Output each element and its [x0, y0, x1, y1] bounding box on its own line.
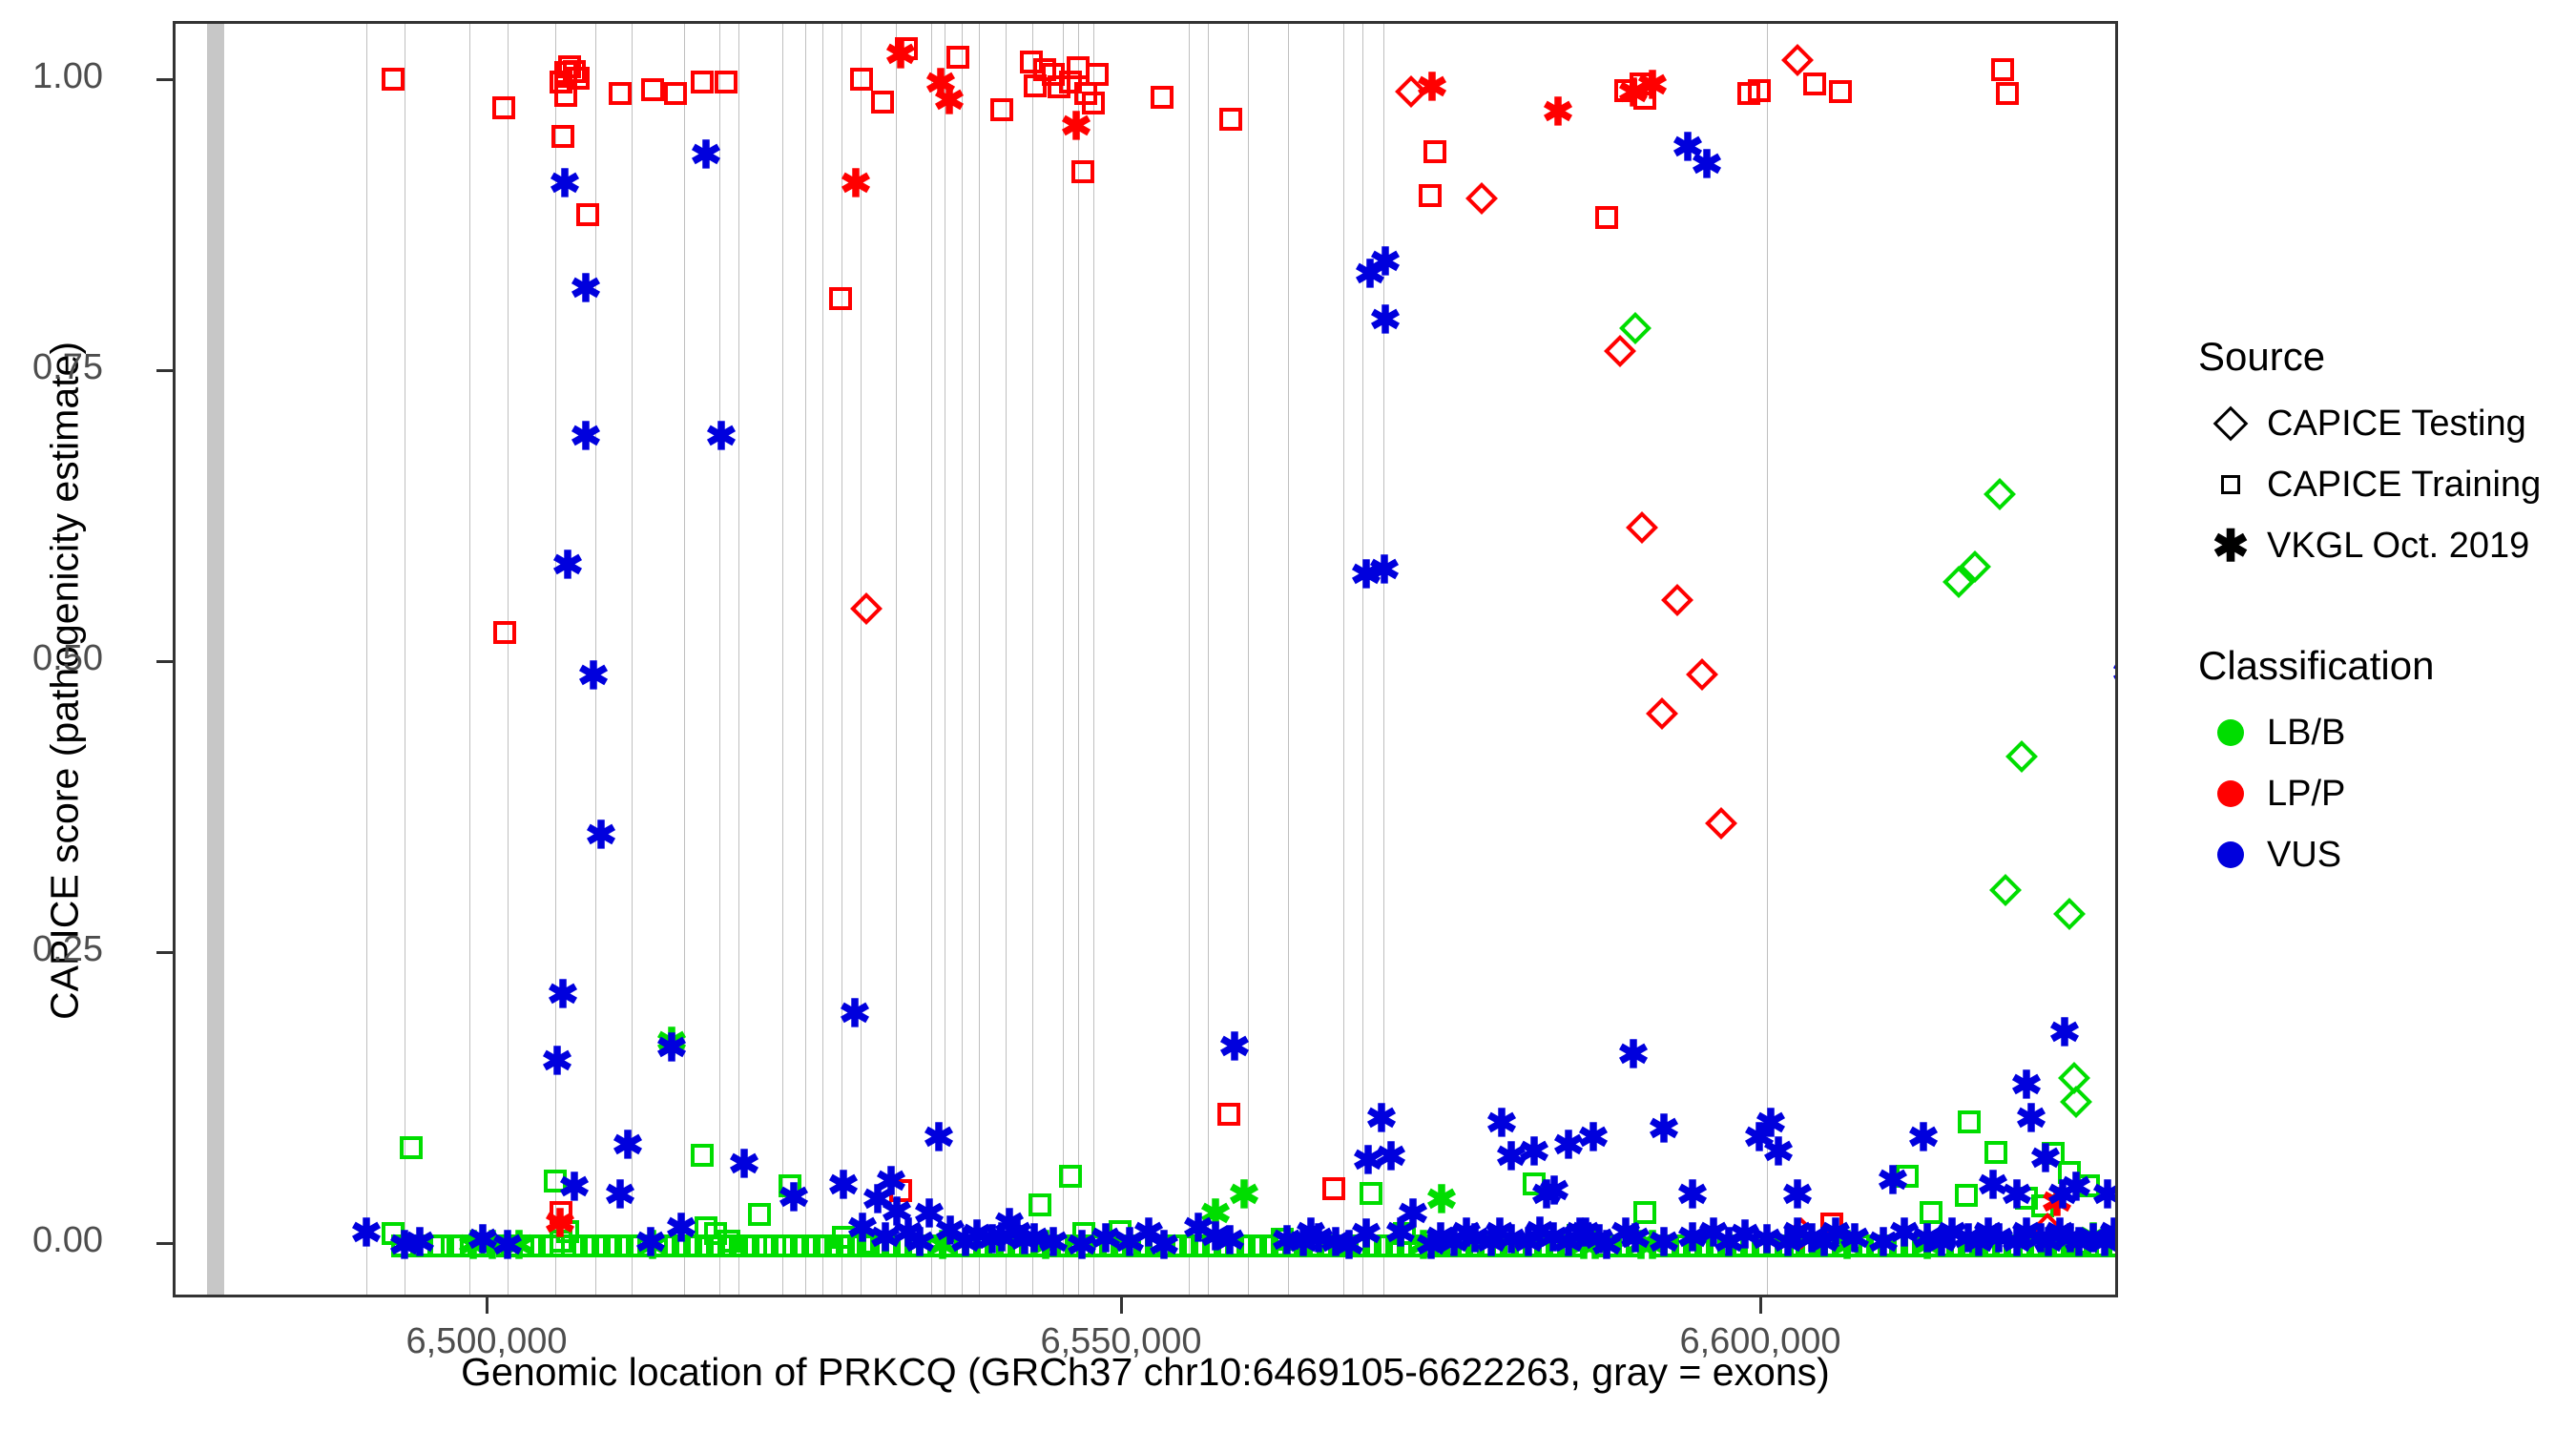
marker-asterisk: ✱ [1817, 1214, 1855, 1253]
marker-asterisk: ✱ [1622, 1227, 1660, 1265]
marker-asterisk: ✱ [401, 1224, 439, 1262]
marker-asterisk: ✱ [473, 1227, 511, 1265]
marker-square [1137, 1234, 1160, 1257]
marker-asterisk: ✱ [1349, 1142, 1387, 1180]
marker-diamond [2005, 740, 2038, 773]
marker-diamond [1959, 550, 1991, 583]
marker-square [990, 98, 1013, 121]
marker-asterisk: ✱ [983, 1219, 1021, 1257]
chart-root: CAPICE score (pathogenicity estimate) ✱✱… [0, 0, 2576, 1431]
legend-title-classification: Classification [2198, 643, 2557, 689]
marker-square [1046, 1234, 1069, 1257]
marker-square [567, 67, 590, 90]
plot-panel: ✱✱✱✱✱✱✱✱✱✱✱✱✱✱✱✱✱✱✱✱✱✱✱✱✱✱✱✱✱✱✱✱✱✱✱✱✱✱✱✱… [173, 21, 2118, 1297]
marker-asterisk: ✱ [632, 1224, 670, 1262]
marker-square [2019, 1234, 2042, 1257]
marker-square [2077, 1174, 2100, 1197]
exon-gridline [1383, 24, 1384, 1295]
marker-asterisk: ✱ [1292, 1214, 1330, 1253]
marker-asterisk: ✱ [1534, 1219, 1572, 1257]
marker-square [1024, 74, 1047, 97]
marker-asterisk: ✱ [1539, 93, 1577, 132]
exon-gridline [595, 24, 596, 1295]
marker-square [441, 1234, 464, 1257]
marker-square [550, 71, 572, 93]
exon-gridline [684, 24, 685, 1295]
marker-square [1072, 1222, 1095, 1245]
marker-square [1973, 1234, 1996, 1257]
marker-square [1607, 1234, 1630, 1257]
legend-item-source-2[interactable]: ✱VKGL Oct. 2019 [2194, 515, 2557, 576]
marker-square [2067, 1232, 2090, 1255]
marker-asterisk: ✱ [634, 1227, 672, 1265]
marker-asterisk: ✱ [1836, 1220, 1874, 1258]
marker-square [2007, 1234, 2030, 1257]
exon-gridline [1767, 24, 1768, 1295]
marker-asterisk: ✱ [1492, 1138, 1530, 1176]
marker-asterisk: ✱ [1908, 1220, 1946, 1258]
marker-diamond [1626, 511, 1658, 544]
color-swatch-icon [2217, 841, 2244, 868]
marker-square [1870, 1234, 1893, 1257]
marker-square [467, 1234, 490, 1257]
marker-asterisk: ✱ [1087, 1220, 1125, 1258]
marker-asterisk: ✱ [1633, 1227, 1672, 1265]
marker-asterisk: ✱ [1969, 1214, 2007, 1253]
marker-asterisk: ✱ [1793, 1220, 1831, 1258]
marker-square [1183, 1234, 1206, 1257]
marker-square [1419, 184, 1442, 207]
marker-asterisk: ✱ [1145, 1227, 1183, 1265]
marker-asterisk: ✱ [1778, 1176, 1817, 1214]
marker-square [427, 1234, 450, 1257]
legend-label: CAPICE Training [2267, 465, 2541, 506]
marker-square [1355, 1234, 1378, 1257]
marker-square [2076, 1234, 2099, 1257]
marker-asterisk: ✱ [1998, 1176, 2036, 1214]
marker-asterisk: ✱ [1435, 1224, 1473, 1262]
legend-item-classification-2[interactable]: VUS [2194, 824, 2557, 885]
marker-asterisk: ✱ [1752, 1105, 1790, 1143]
marker-square [1320, 1234, 1343, 1257]
marker-diamond [1646, 697, 1678, 730]
marker-square [1458, 1234, 1481, 1257]
marker-diamond [1781, 44, 1814, 76]
marker-asterisk: ✱ [901, 1224, 939, 1262]
marker-asterisk: ✱ [1179, 1210, 1217, 1248]
marker-asterisk: ✱ [1063, 1227, 1101, 1265]
marker-asterisk: ✱ [546, 165, 584, 203]
marker-asterisk: ✱ [2086, 1224, 2115, 1262]
marker-asterisk: ✱ [2007, 1067, 2046, 1105]
marker-asterisk: ✱ [1805, 1224, 1843, 1262]
exon-gridline [555, 24, 556, 1295]
marker-asterisk: ✱ [1614, 74, 1652, 113]
marker-asterisk: ✱ [958, 1216, 996, 1255]
marker-square [889, 1179, 912, 1202]
marker-square [556, 1220, 579, 1243]
marker-square [1896, 1165, 1919, 1188]
marker-square [1904, 1234, 1927, 1257]
marker-square [966, 1234, 988, 1257]
marker-diamond [1686, 658, 1718, 691]
marker-square [1996, 82, 2019, 105]
marker-asterisk: ✱ [1864, 1224, 1902, 1262]
marker-square [1955, 1184, 1978, 1207]
marker-square [607, 1234, 630, 1257]
marker-square [850, 68, 873, 91]
y-axis-title: CAPICE score (pathogenicity estimate) [43, 61, 88, 1301]
marker-asterisk: ✱ [2029, 1224, 2067, 1262]
marker-asterisk: ✱ [2112, 1220, 2115, 1258]
exon-gridline [1078, 24, 1079, 1295]
marker-asterisk: ✱ [922, 65, 960, 103]
marker-asterisk: ✱ [1885, 1214, 1923, 1253]
marker-square [1080, 1234, 1103, 1257]
y-tick [156, 951, 173, 954]
marker-square [704, 1222, 727, 1245]
marker-square [1126, 1234, 1149, 1257]
marker-asterisk: ✱ [1268, 1222, 1306, 1260]
marker-asterisk: ✱ [601, 1176, 639, 1214]
marker-asterisk: ✱ [2041, 1214, 2079, 1253]
marker-square [1687, 1234, 1710, 1257]
marker-asterisk: ✱ [859, 1181, 897, 1219]
square-icon [2221, 475, 2240, 494]
marker-diamond [2031, 1213, 2064, 1245]
marker-square [721, 1234, 744, 1257]
marker-asterisk: ✱ [1317, 1224, 1355, 1262]
marker-square [695, 1216, 717, 1239]
marker-asterisk: ✱ [1362, 1100, 1401, 1138]
marker-asterisk: ✱ [1616, 1220, 1654, 1258]
marker-asterisk: ✱ [1726, 1216, 1764, 1255]
marker-square [840, 1234, 862, 1257]
marker-asterisk: ✱ [2074, 1220, 2112, 1258]
exon-gridline [841, 24, 842, 1295]
exon-band [207, 24, 224, 1295]
marker-asterisk: ✱ [866, 1219, 904, 1257]
marker-square [1778, 1234, 1801, 1257]
marker-asterisk: ✱ [1422, 1219, 1460, 1257]
exon-gridline [719, 24, 720, 1295]
marker-square [554, 84, 577, 107]
marker-asterisk: ✱ [2057, 1169, 2095, 1207]
marker-square [805, 1234, 828, 1257]
color-swatch-icon [2217, 780, 2244, 807]
marker-square [954, 1234, 977, 1257]
marker-square [2065, 1234, 2088, 1257]
marker-square [410, 1234, 433, 1257]
marker-asterisk: ✱ [1673, 1219, 1712, 1257]
marker-asterisk: ✱ [2007, 1214, 2046, 1253]
y-tick-label: 0.25 [32, 929, 103, 970]
legend-item-classification-0[interactable]: LB/B [2194, 702, 2557, 763]
marker-square [1160, 1234, 1183, 1257]
marker-asterisk: ✱ [1633, 67, 1672, 105]
marker-square [1549, 1234, 1572, 1257]
exon-gridline [805, 24, 806, 1295]
marker-asterisk: ✱ [930, 82, 968, 120]
marker-asterisk: ✱ [2044, 1176, 2082, 1214]
marker-square [1721, 1234, 1744, 1257]
marker-asterisk: ✱ [1673, 1176, 1712, 1214]
marker-square [829, 287, 852, 310]
marker-square [1797, 1234, 1820, 1257]
marker-square [691, 71, 714, 93]
marker-asterisk: ✱ [662, 1210, 700, 1248]
marker-asterisk: ✱ [1015, 1220, 1053, 1258]
marker-asterisk: ✱ [1372, 1138, 1410, 1176]
marker-square [572, 1234, 595, 1257]
marker-asterisk: ✱ [1669, 129, 1707, 167]
marker-square [748, 1203, 771, 1226]
exon-gridline [1006, 24, 1007, 1295]
marker-square [550, 1230, 572, 1253]
marker-asterisk: ✱ [574, 657, 613, 695]
marker-square [1366, 1234, 1389, 1257]
marker-square [897, 1234, 920, 1257]
legend-item-source-0[interactable]: CAPICE Testing [2194, 393, 2557, 454]
marker-square [874, 1234, 897, 1257]
marker-square [1275, 1234, 1298, 1257]
legend-label: LP/P [2267, 774, 2345, 815]
exon-gridline [469, 24, 470, 1295]
marker-square [1710, 1234, 1733, 1257]
marker-square [817, 1234, 840, 1257]
marker-asterisk: ✱ [1034, 1224, 1072, 1262]
marker-square [1561, 1234, 1584, 1257]
marker-asterisk: ✱ [1111, 1224, 1149, 1262]
marker-diamond [2060, 1086, 2092, 1118]
marker-square [1446, 1234, 1469, 1257]
x-tick-label: 6,550,000 [1040, 1321, 1201, 1362]
marker-asterisk: ✱ [2074, 1219, 2112, 1257]
marker-asterisk: ✱ [1481, 1214, 1519, 1253]
marker-square [1057, 1234, 1080, 1257]
marker-asterisk: ✱ [1933, 1214, 1971, 1253]
marker-square [1435, 1234, 1458, 1257]
y-tick-label: 0.75 [32, 347, 103, 388]
marker-asterisk: ✱ [1366, 243, 1404, 281]
marker-asterisk: ✱ [1515, 1133, 1553, 1172]
marker-square [1633, 87, 1656, 110]
marker-square [391, 1234, 414, 1257]
marker-square [1744, 1234, 1767, 1257]
x-tick [486, 1297, 488, 1314]
marker-asterisk: ✱ [567, 418, 605, 456]
exon-gridline [632, 24, 633, 1295]
marker-diamond [1785, 1217, 1818, 1250]
marker-asterisk: ✱ [1509, 1224, 1548, 1262]
y-tick-label: 0.00 [32, 1220, 103, 1261]
marker-diamond [2058, 1062, 2090, 1094]
marker-asterisk: ✱ [1998, 1224, 2036, 1262]
exon-gridline [979, 24, 980, 1295]
marker-square [1423, 1234, 1446, 1257]
marker-square [1298, 1234, 1320, 1257]
marker-asterisk: ✱ [1645, 1224, 1683, 1262]
marker-square [618, 1234, 641, 1257]
x-tick-label: 6,600,000 [1679, 1321, 1840, 1362]
marker-asterisk: ✱ [1688, 146, 1726, 184]
marker-square [885, 1234, 908, 1257]
marker-asterisk: ✱ [653, 1024, 691, 1062]
marker-square [530, 1234, 553, 1257]
marker-asterisk: ✱ [1607, 1214, 1645, 1253]
marker-square [1515, 1234, 1538, 1257]
marker-square [1950, 1234, 1973, 1257]
marker-square [563, 60, 586, 83]
marker-asterisk: ✱ [1561, 1214, 1599, 1253]
marker-asterisk: ✱ [1423, 1181, 1461, 1219]
marker-asterisk: ✱ [2012, 1100, 2050, 1138]
exon-gridline [1208, 24, 1209, 1295]
marker-square [1984, 1141, 2007, 1164]
marker-asterisk: ✱ [1196, 1218, 1235, 1256]
marker-asterisk: ✱ [1908, 1227, 1946, 1265]
marker-square [1240, 1234, 1263, 1257]
marker-square [1401, 1234, 1423, 1257]
marker-asterisk: ✱ [1447, 1214, 1485, 1253]
marker-square [1633, 1201, 1656, 1224]
marker-square [1939, 1234, 1962, 1257]
marker-asterisk: ✱ [1574, 1119, 1612, 1157]
marker-diamond [1661, 584, 1693, 616]
marker-square [595, 1234, 618, 1257]
marker-square [1172, 1234, 1195, 1257]
marker-asterisk: ✱ [924, 1227, 962, 1265]
marker-asterisk: ✱ [2109, 654, 2115, 693]
marker-asterisk: ✱ [1225, 1176, 1263, 1214]
marker-asterisk: ✱ [1456, 1220, 1494, 1258]
y-tick [156, 369, 173, 372]
marker-asterisk: ✱ [1576, 1227, 1614, 1265]
marker-asterisk: ✱ [1759, 1133, 1797, 1172]
marker-square [1109, 1220, 1132, 1243]
marker-square [1423, 140, 1446, 163]
marker-square [1011, 1234, 1034, 1257]
marker-square [558, 55, 581, 78]
marker-asterisk: ✱ [1365, 551, 1403, 590]
marker-square [1091, 1234, 1114, 1257]
marker-square [554, 61, 577, 84]
marker-square [1086, 63, 1109, 86]
marker-square [908, 1234, 931, 1257]
marker-square [1322, 1177, 1345, 1200]
marker-square [1664, 1234, 1687, 1257]
marker-asterisk: ✱ [1284, 1224, 1322, 1262]
marker-square [1309, 1234, 1332, 1257]
marker-square [1820, 1213, 1843, 1235]
marker-square [1103, 1234, 1126, 1257]
marker-square [1523, 1172, 1546, 1195]
marker-square [1859, 1234, 1881, 1257]
marker-square [691, 1144, 714, 1167]
legend-item-classification-1[interactable]: LP/P [2194, 763, 2557, 824]
x-tick [1759, 1297, 1762, 1314]
marker-square [1595, 206, 1618, 229]
marker-square [828, 1234, 851, 1257]
marker-asterisk: ✱ [1778, 1214, 1817, 1253]
marker-square [988, 1234, 1011, 1257]
marker-square [1219, 108, 1242, 131]
marker-asterisk: ✱ [555, 1169, 593, 1207]
marker-square [946, 46, 969, 69]
exon-gridline [1362, 24, 1363, 1295]
marker-asterisk: ✱ [653, 1029, 691, 1068]
marker-asterisk: ✱ [1347, 556, 1385, 594]
marker-square [1048, 75, 1070, 98]
marker-square [895, 37, 918, 60]
marker-asterisk: ✱ [549, 547, 587, 585]
legend-title-source: Source [2198, 334, 2557, 380]
marker-asterisk: ✱ [843, 1210, 882, 1248]
marker-asterisk: ✱ [1949, 1220, 1987, 1258]
exon-gridline [945, 24, 945, 1295]
marker-square [1767, 1234, 1790, 1257]
marker-square [1469, 1234, 1492, 1257]
marker-square [2058, 1161, 2081, 1184]
marker-asterisk: ✱ [1366, 301, 1404, 340]
marker-asterisk: ✱ [878, 1193, 916, 1232]
marker-asterisk: ✱ [824, 1167, 862, 1205]
marker-square [1000, 1234, 1023, 1257]
marker-square [1504, 1234, 1527, 1257]
marker-asterisk: ✱ [1527, 1176, 1566, 1214]
legend-label: CAPICE Testing [2267, 404, 2526, 445]
marker-square [1393, 1222, 1416, 1245]
marker-square [2030, 1234, 2053, 1257]
legend: Source CAPICE TestingCAPICE Training✱VKG… [2194, 334, 2557, 885]
exon-gridline [1189, 24, 1190, 1295]
marker-asterisk: ✱ [775, 1179, 813, 1217]
exon-gridline [861, 24, 862, 1295]
marker-square [1958, 1110, 1981, 1133]
marker-square [1698, 1234, 1721, 1257]
marker-asterisk: ✱ [1904, 1119, 1942, 1157]
marker-square [1893, 1234, 1916, 1257]
marker-asterisk: ✱ [2046, 1014, 2084, 1052]
legend-item-source-1[interactable]: CAPICE Training [2194, 454, 2557, 515]
marker-asterisk: ✱ [1521, 1213, 1559, 1252]
marker-square [1847, 1234, 1870, 1257]
marker-square [1389, 1234, 1412, 1257]
marker-asterisk: ✱ [1492, 1221, 1530, 1259]
marker-asterisk: ✱ [2038, 1184, 2076, 1222]
marker-square [1614, 79, 1637, 102]
marker-square [1527, 1234, 1549, 1257]
marker-diamond [1395, 75, 1427, 108]
marker-square [2015, 1187, 2038, 1210]
marker-asterisk: ✱ [920, 1119, 958, 1157]
marker-square [400, 1136, 423, 1159]
marker-square [493, 621, 516, 644]
marker-square [1803, 73, 1826, 95]
marker-diamond [1984, 478, 2016, 510]
marker-square [382, 68, 405, 91]
marker-asterisk: ✱ [2026, 1140, 2065, 1178]
marker-square [1984, 1234, 2007, 1257]
marker-square [1991, 58, 2014, 81]
marker-asterisk: ✱ [454, 1227, 492, 1265]
marker-square [1927, 1234, 1950, 1257]
marker-square [1881, 1234, 1904, 1257]
marker-asterisk: ✱ [872, 1163, 910, 1201]
marker-asterisk: ✱ [1299, 1220, 1338, 1258]
marker-square [550, 1201, 572, 1224]
exon-gridline [405, 24, 405, 1295]
